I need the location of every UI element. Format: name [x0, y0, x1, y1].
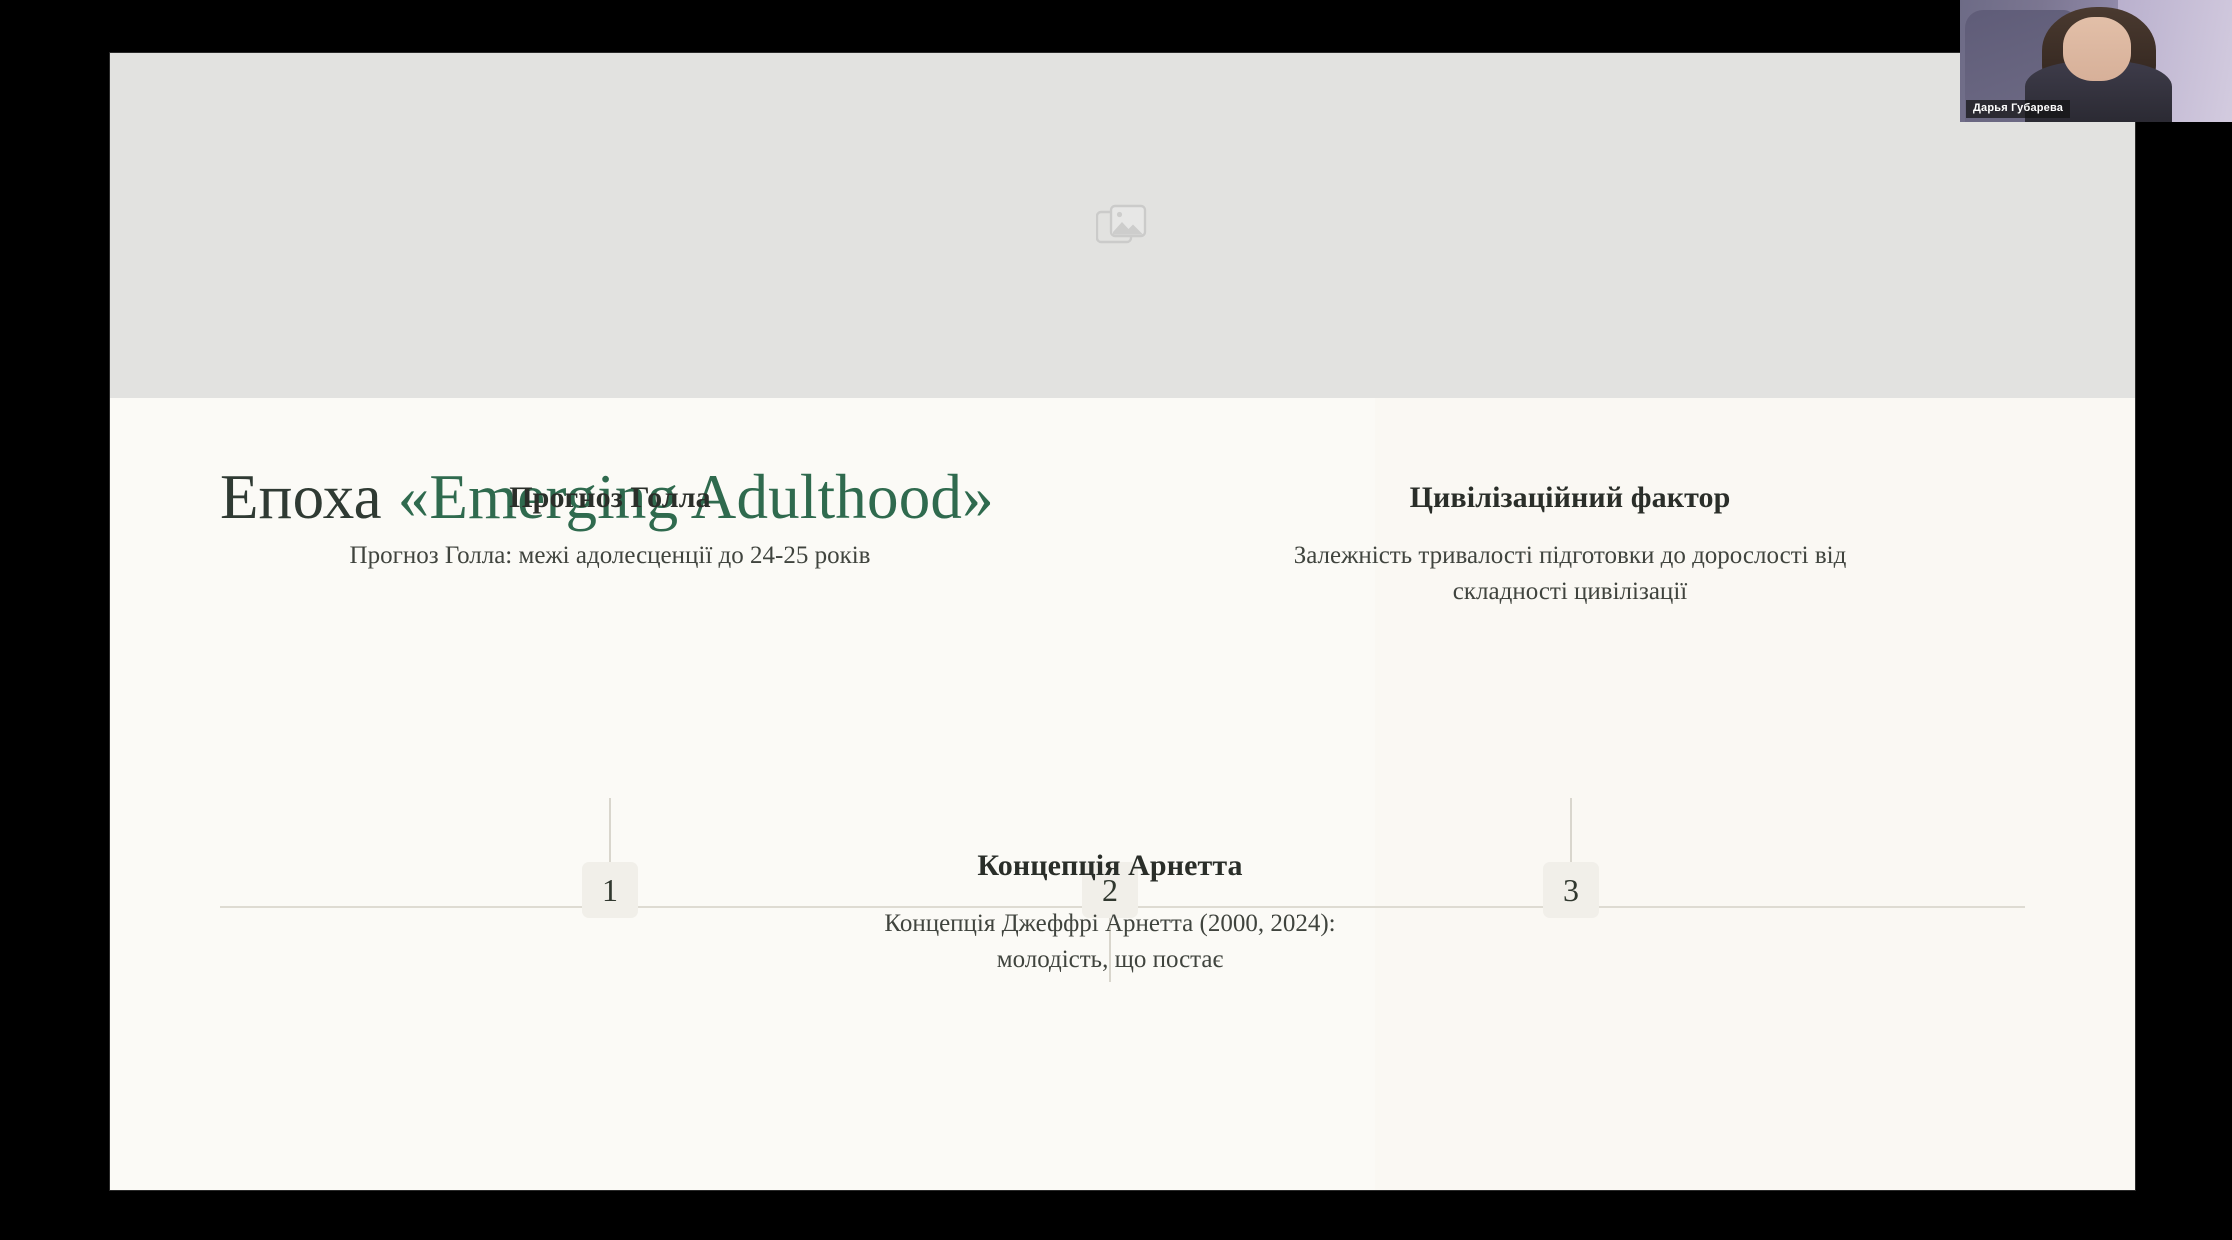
- timeline-item-2: Концепція Арнетта Концепція Джеффрі Арне…: [840, 848, 1380, 979]
- timeline-connector-3: [1570, 798, 1572, 862]
- timeline-node-1-label: 1: [602, 874, 618, 906]
- webcam-overlay[interactable]: Дарья Губарева: [1960, 0, 2232, 122]
- timeline-item-3: Цивілізаційний фактор Залежність тривало…: [1260, 480, 1880, 611]
- timeline-item-3-title: Цивілізаційний фактор: [1260, 480, 1880, 516]
- slide-content: Епоха «Emerging Adulthood» 1 2 3 Прогноз…: [110, 398, 2135, 1190]
- timeline-item-1-title: Прогноз Голла: [340, 480, 880, 516]
- timeline-connector-1: [609, 798, 611, 862]
- webcam-person-face: [2063, 17, 2131, 80]
- image-placeholder-icon: [1096, 203, 1150, 249]
- timeline-node-3[interactable]: 3: [1543, 862, 1599, 918]
- timeline-node-3-label: 3: [1563, 874, 1579, 906]
- timeline-item-1: Прогноз Голла Прогноз Голла: межі адолес…: [340, 480, 880, 574]
- timeline-item-1-description: Прогноз Голла: межі адолесценції до 24-2…: [340, 538, 880, 574]
- timeline-item-3-description: Залежність тривалості підготовки до доро…: [1260, 538, 1880, 611]
- slide-banner-image: [110, 53, 2135, 398]
- timeline-item-2-title: Концепція Арнетта: [840, 848, 1380, 884]
- webcam-participant-name: Дарья Губарева: [1966, 100, 2070, 118]
- timeline-item-2-description: Концепція Джеффрі Арнетта (2000, 2024): …: [840, 906, 1380, 979]
- timeline-node-1[interactable]: 1: [582, 862, 638, 918]
- presentation-slide: Епоха «Emerging Adulthood» 1 2 3 Прогноз…: [110, 53, 2135, 1190]
